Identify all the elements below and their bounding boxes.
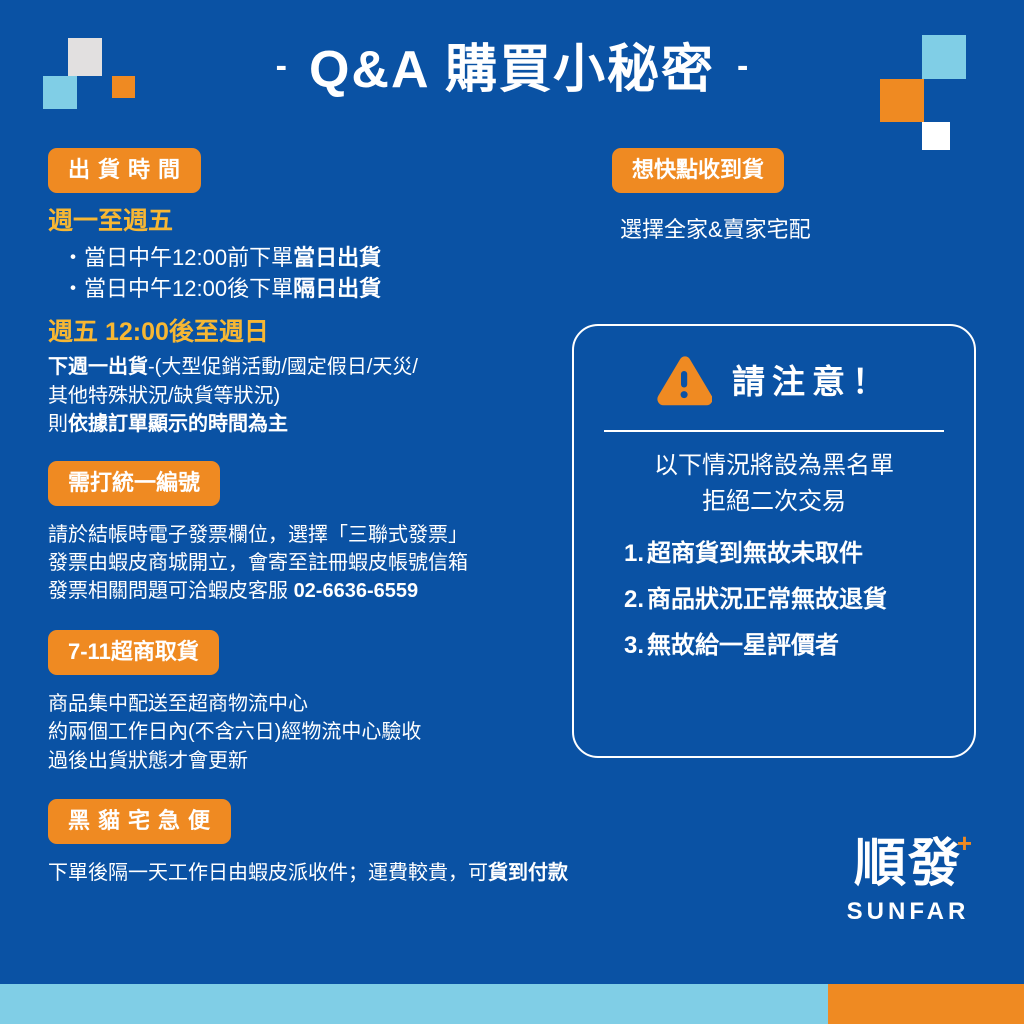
weekend-line-1-emph: 下週一出貨 xyxy=(48,356,148,378)
footer-strip-cyan xyxy=(0,984,828,1024)
black-cat-line-emph: 貨到付款 xyxy=(488,862,568,884)
black-cat-body: 下單後隔一天工作日由蝦皮派收件；運費較貴，可貨到付款 xyxy=(48,859,568,887)
poster-root: - Q&A 購買小秘密 - 出貨時間 週一至週五 ・當日中午12:00前下單當日… xyxy=(0,0,1024,1024)
bullet-text-2: 當日中午12:00後下單 xyxy=(84,276,293,301)
tax-id-line-1: 請於結帳時電子發票欄位，選擇「三聯式發票」 xyxy=(48,521,568,549)
notice-item-2: 2.商品狀況正常無故退貨 xyxy=(600,588,948,612)
shipping-bullet-2: ・當日中午12:00後下單隔日出貨 xyxy=(48,273,568,304)
section-black-cat: 黑貓宅急便 下單後隔一天工作日由蝦皮派收件；運費較貴，可貨到付款 xyxy=(48,799,568,887)
logo-cjk-wrap: 順發+ xyxy=(838,838,978,890)
heading-weekend: 週五 12:00後至週日 xyxy=(48,317,568,347)
badge-seven-eleven: 7-11超商取貨 xyxy=(48,630,219,675)
fast-delivery-text: 選擇全家&賣家宅配 xyxy=(612,215,992,246)
footer-strip xyxy=(0,984,1024,1024)
notice-box: 請注意！ 以下情況將設為黑名單 拒絕二次交易 1.超商貨到無故未取件 2.商品狀… xyxy=(572,324,976,758)
black-cat-line-text: 下單後隔一天工作日由蝦皮派收件；運費較貴，可 xyxy=(48,862,488,884)
notice-item-3: 3.無故給一星評價者 xyxy=(600,634,948,658)
notice-item-2-number: 2. xyxy=(624,586,644,613)
logo-plus-icon: + xyxy=(957,830,974,856)
tax-id-line-3-text: 發票相關問題可洽蝦皮客服 xyxy=(48,580,294,602)
notice-divider xyxy=(604,430,944,432)
weekend-line-1: 下週一出貨-(大型促銷活動/國定假日/天災/ xyxy=(48,353,568,381)
weekend-line-1-text: -(大型促銷活動/國定假日/天災/ xyxy=(148,356,418,378)
brand-logo: 順發+ SUNFAR xyxy=(838,838,978,924)
notice-item-1: 1.超商貨到無故未取件 xyxy=(600,542,948,566)
left-column: 出貨時間 週一至週五 ・當日中午12:00前下單當日出貨 ・當日中午12:00後… xyxy=(48,148,568,887)
page-title: Q&A 購買小秘密 xyxy=(309,44,715,96)
seven-eleven-line-2: 約兩個工作日內(不含六日)經物流中心驗收 xyxy=(48,718,568,746)
heading-weekday: 週一至週五 xyxy=(48,206,568,236)
header: - Q&A 購買小秘密 - xyxy=(0,30,1024,110)
weekend-line-3-emph: 依據訂單顯示的時間為主 xyxy=(68,413,288,435)
seven-eleven-line-3: 過後出貨狀態才會更新 xyxy=(48,747,568,775)
bullet-emph-2: 隔日出貨 xyxy=(293,276,381,301)
notice-item-3-text: 無故給一星評價者 xyxy=(647,632,839,659)
weekend-line-2: 其他特殊狀況/缺貨等狀況) xyxy=(48,382,568,410)
bullet-dot-2: ・ xyxy=(62,276,84,301)
section-shipping-time: 出貨時間 週一至週五 ・當日中午12:00前下單當日出貨 ・當日中午12:00後… xyxy=(48,148,568,439)
section-seven-eleven: 7-11超商取貨 商品集中配送至超商物流中心 約兩個工作日內(不含六日)經物流中… xyxy=(48,630,568,775)
notice-item-1-text: 超商貨到無故未取件 xyxy=(647,540,863,567)
bullet-emph-1: 當日出貨 xyxy=(293,245,381,270)
title-dash-left: - xyxy=(276,49,287,83)
section-fast-delivery: 想快點收到貨 選擇全家&賣家宅配 xyxy=(612,148,992,246)
bullet-dot-1: ・ xyxy=(62,245,84,270)
footer-strip-orange xyxy=(828,984,1024,1024)
seven-eleven-line-1: 商品集中配送至超商物流中心 xyxy=(48,690,568,718)
logo-cjk-text: 順發+ xyxy=(854,838,962,890)
notice-item-2-text: 商品狀況正常無故退貨 xyxy=(647,586,887,613)
seven-eleven-body: 商品集中配送至超商物流中心 約兩個工作日內(不含六日)經物流中心驗收 過後出貨狀… xyxy=(48,690,568,775)
weekend-line-3-text: 則 xyxy=(48,413,68,435)
notice-header: 請注意！ xyxy=(600,348,948,414)
section-tax-id: 需打統一編號 請於結帳時電子發票欄位，選擇「三聯式發票」 發票由蝦皮商城開立，會… xyxy=(48,461,568,606)
shipping-bullet-1: ・當日中午12:00前下單當日出貨 xyxy=(48,242,568,273)
weekend-line-3: 則依據訂單顯示的時間為主 xyxy=(48,410,568,438)
black-cat-line: 下單後隔一天工作日由蝦皮派收件；運費較貴，可貨到付款 xyxy=(48,859,568,887)
badge-shipping-time: 出貨時間 xyxy=(48,148,201,193)
notice-subtitle-line-1: 以下情況將設為黑名單 xyxy=(600,448,948,484)
notice-item-1-number: 1. xyxy=(624,540,644,567)
logo-latin-text: SUNFAR xyxy=(838,900,978,924)
notice-subtitle-line-2: 拒絕二次交易 xyxy=(600,484,948,520)
tax-id-line-2: 發票由蝦皮商城開立，會寄至註冊蝦皮帳號信箱 xyxy=(48,549,568,577)
tax-id-line-3: 發票相關問題可洽蝦皮客服 02-6636-6559 xyxy=(48,577,568,605)
bullet-text-1: 當日中午12:00前下單 xyxy=(84,245,293,270)
badge-black-cat: 黑貓宅急便 xyxy=(48,799,231,844)
notice-title: 請注意！ xyxy=(728,365,892,398)
tax-id-body: 請於結帳時電子發票欄位，選擇「三聯式發票」 發票由蝦皮商城開立，會寄至註冊蝦皮帳… xyxy=(48,521,568,606)
warning-triangle-icon xyxy=(656,356,712,406)
logo-cjk-chars: 順發 xyxy=(854,835,962,893)
shopee-service-phone: 02-6636-6559 xyxy=(294,580,419,602)
title-dash-right: - xyxy=(737,49,748,83)
badge-tax-id: 需打統一編號 xyxy=(48,461,220,506)
notice-item-3-number: 3. xyxy=(624,632,644,659)
decor-square-white-top-right xyxy=(922,122,950,150)
right-column: 想快點收到貨 選擇全家&賣家宅配 xyxy=(612,148,992,246)
badge-fast-delivery: 想快點收到貨 xyxy=(612,148,784,193)
